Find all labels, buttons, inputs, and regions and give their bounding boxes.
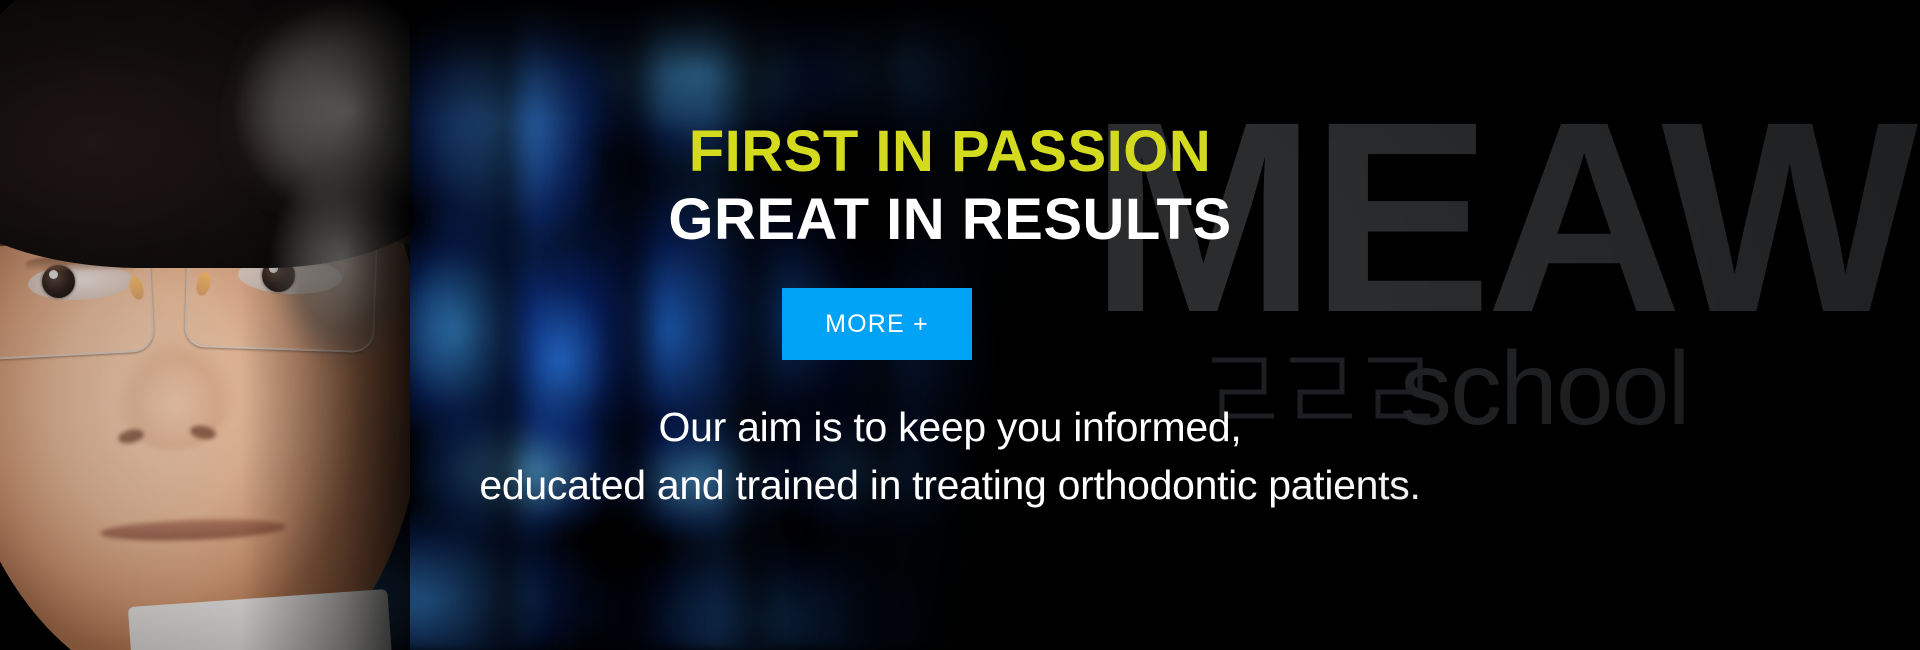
portrait-edge-shadow xyxy=(240,0,410,650)
tagline-line-1: Our aim is to keep you informed, xyxy=(400,398,1500,456)
hero-banner: MEAW school xyxy=(0,0,1920,650)
more-button-label: MORE + xyxy=(825,310,929,339)
more-button[interactable]: MORE + xyxy=(782,288,972,360)
portrait-image xyxy=(0,0,410,650)
tagline-line-2: educated and trained in treating orthodo… xyxy=(400,456,1500,514)
banner-content: FIRST IN PASSION GREAT IN RESULTS MORE +… xyxy=(400,0,1500,650)
headline-line-1: FIRST IN PASSION xyxy=(400,118,1500,186)
headline-line-2: GREAT IN RESULTS xyxy=(400,186,1500,254)
headline-block: FIRST IN PASSION GREAT IN RESULTS xyxy=(400,118,1500,254)
tagline-block: Our aim is to keep you informed, educate… xyxy=(400,398,1500,514)
